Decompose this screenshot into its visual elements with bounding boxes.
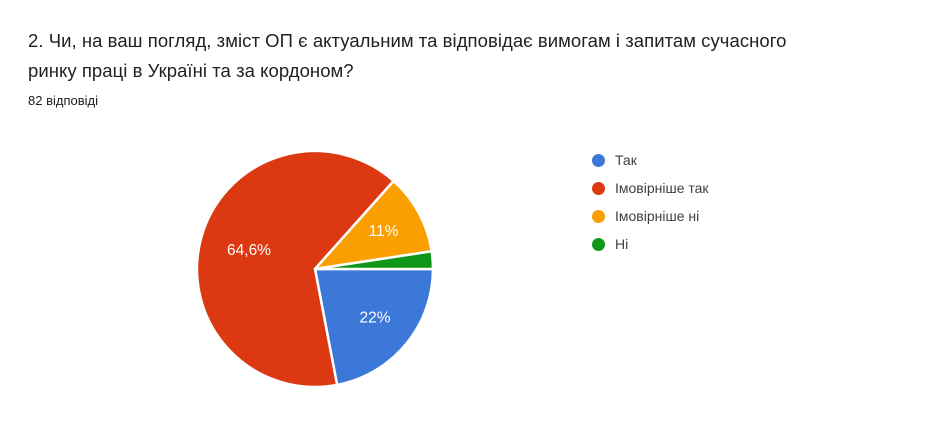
pie-chart-svg: 22%64,6%11% [150,128,490,413]
chart-area: 22%64,6%11% Так Імовірніше так Імовірніш… [0,128,941,413]
legend-item-label: Імовірніше ні [615,207,699,225]
legend-item-1[interactable]: Імовірніше так [592,174,852,202]
legend-item-2[interactable]: Імовірніше ні [592,202,852,230]
chart-legend: Так Імовірніше так Імовірніше ні Ні [592,146,852,258]
chart-card: 2. Чи, на ваш погляд, зміст ОП є актуаль… [0,0,941,428]
legend-item-label: Імовірніше так [615,179,709,197]
legend-swatch-icon [592,154,605,167]
pie-slice-group [197,151,433,387]
question-block: 2. Чи, на ваш погляд, зміст ОП є актуаль… [28,26,828,109]
legend-swatch-icon [592,238,605,251]
legend-swatch-icon [592,210,605,223]
legend-item-label: Ні [615,235,628,253]
legend-swatch-icon [592,182,605,195]
response-count: 82 відповіді [28,92,828,109]
legend-item-3[interactable]: Ні [592,230,852,258]
pie-chart: 22%64,6%11% [150,128,490,413]
legend-item-label: Так [615,151,637,169]
legend-item-0[interactable]: Так [592,146,852,174]
page-title: 2. Чи, на ваш погляд, зміст ОП є актуаль… [28,26,828,86]
